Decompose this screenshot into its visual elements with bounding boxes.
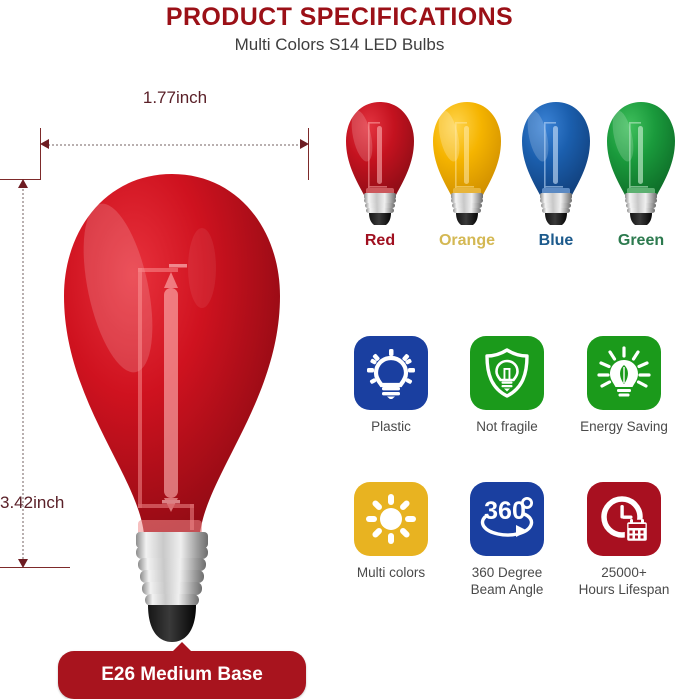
feature-label-360-degree-line2: Beam Angle xyxy=(452,581,562,598)
width-dimension-label: 1.77inch xyxy=(110,88,240,108)
color-label-red: Red xyxy=(342,232,418,250)
feature-plastic: Plastic xyxy=(336,336,446,435)
leaf-bulb-icon xyxy=(597,346,651,400)
color-variant-orange: Orange xyxy=(429,100,505,250)
feature-tile-plastic xyxy=(354,336,428,410)
product-specifications-infographic: PRODUCT SPECIFICATIONS Multi Colors S14 … xyxy=(0,0,679,629)
base-badge-label: E26 Medium Base xyxy=(101,664,263,686)
feature-tile-energy-saving xyxy=(587,336,661,410)
sun-icon xyxy=(365,493,417,545)
feature-tile-lifespan xyxy=(587,482,661,556)
feature-label-energy-saving: Energy Saving xyxy=(569,418,679,435)
arrow-right-icon xyxy=(300,139,309,149)
feature-label-not-fragile: Not fragile xyxy=(452,418,562,435)
extension-line-left xyxy=(40,128,41,180)
arrow-down-icon xyxy=(18,559,28,568)
shield-bulb-icon xyxy=(481,347,533,399)
color-label-green: Green xyxy=(603,232,679,250)
feature-tile-360-degree: 360 xyxy=(470,482,544,556)
page-title: PRODUCT SPECIFICATIONS xyxy=(0,3,679,31)
color-variants-row: Red xyxy=(340,100,679,275)
header: PRODUCT SPECIFICATIONS Multi Colors S14 … xyxy=(0,0,679,56)
bulb-red-icon xyxy=(342,100,418,225)
bulb-green-icon xyxy=(603,100,679,225)
feature-tile-multi-colors xyxy=(354,482,428,556)
height-dimension-line xyxy=(22,186,24,562)
feature-label-lifespan-line1: 25000+ xyxy=(569,564,679,581)
feature-label-lifespan-line2: Hours Lifespan xyxy=(569,581,679,598)
arrow-left-icon xyxy=(40,139,49,149)
badge-notch-icon xyxy=(172,642,192,652)
feature-360-degree: 360 360 Degree Beam Angle xyxy=(452,482,562,598)
feature-label-plastic: Plastic xyxy=(336,418,446,435)
color-variant-green: Green xyxy=(603,100,679,250)
extension-line-right xyxy=(308,128,309,180)
width-dimension-line xyxy=(44,144,306,146)
feature-multi-colors: Multi colors xyxy=(336,482,446,581)
e26-base-badge: E26 Medium Base xyxy=(58,651,306,699)
bulb-highlight-secondary xyxy=(188,228,216,308)
color-label-orange: Orange xyxy=(429,232,505,250)
feature-label-360-degree-line1: 360 Degree xyxy=(452,564,562,581)
arrow-up-icon xyxy=(18,179,28,188)
bulb-blue-icon xyxy=(518,100,594,225)
feature-tile-not-fragile xyxy=(470,336,544,410)
feature-not-fragile: Not fragile xyxy=(452,336,562,435)
measurement-diagram: 1.77inch 3.42inch xyxy=(0,78,330,629)
e26-screw-base xyxy=(136,532,208,642)
feature-grid: Plastic Not fragile xyxy=(336,336,679,626)
svg-text:360: 360 xyxy=(484,497,526,525)
360-degree-icon: 360 xyxy=(476,493,538,545)
color-variant-red: Red xyxy=(342,100,418,250)
color-variant-blue: Blue xyxy=(518,100,594,250)
page-subtitle: Multi Colors S14 LED Bulbs xyxy=(0,34,679,56)
feature-lifespan: 25000+ Hours Lifespan xyxy=(569,482,679,598)
clock-calendar-icon xyxy=(598,493,650,545)
color-label-blue: Blue xyxy=(518,232,594,250)
large-red-bulb-image xyxy=(52,168,292,648)
feature-label-multi-colors: Multi colors xyxy=(336,564,446,581)
feature-energy-saving: Energy Saving xyxy=(569,336,679,435)
bulb-orange-icon xyxy=(429,100,505,225)
bulb-glow-icon xyxy=(365,347,417,399)
